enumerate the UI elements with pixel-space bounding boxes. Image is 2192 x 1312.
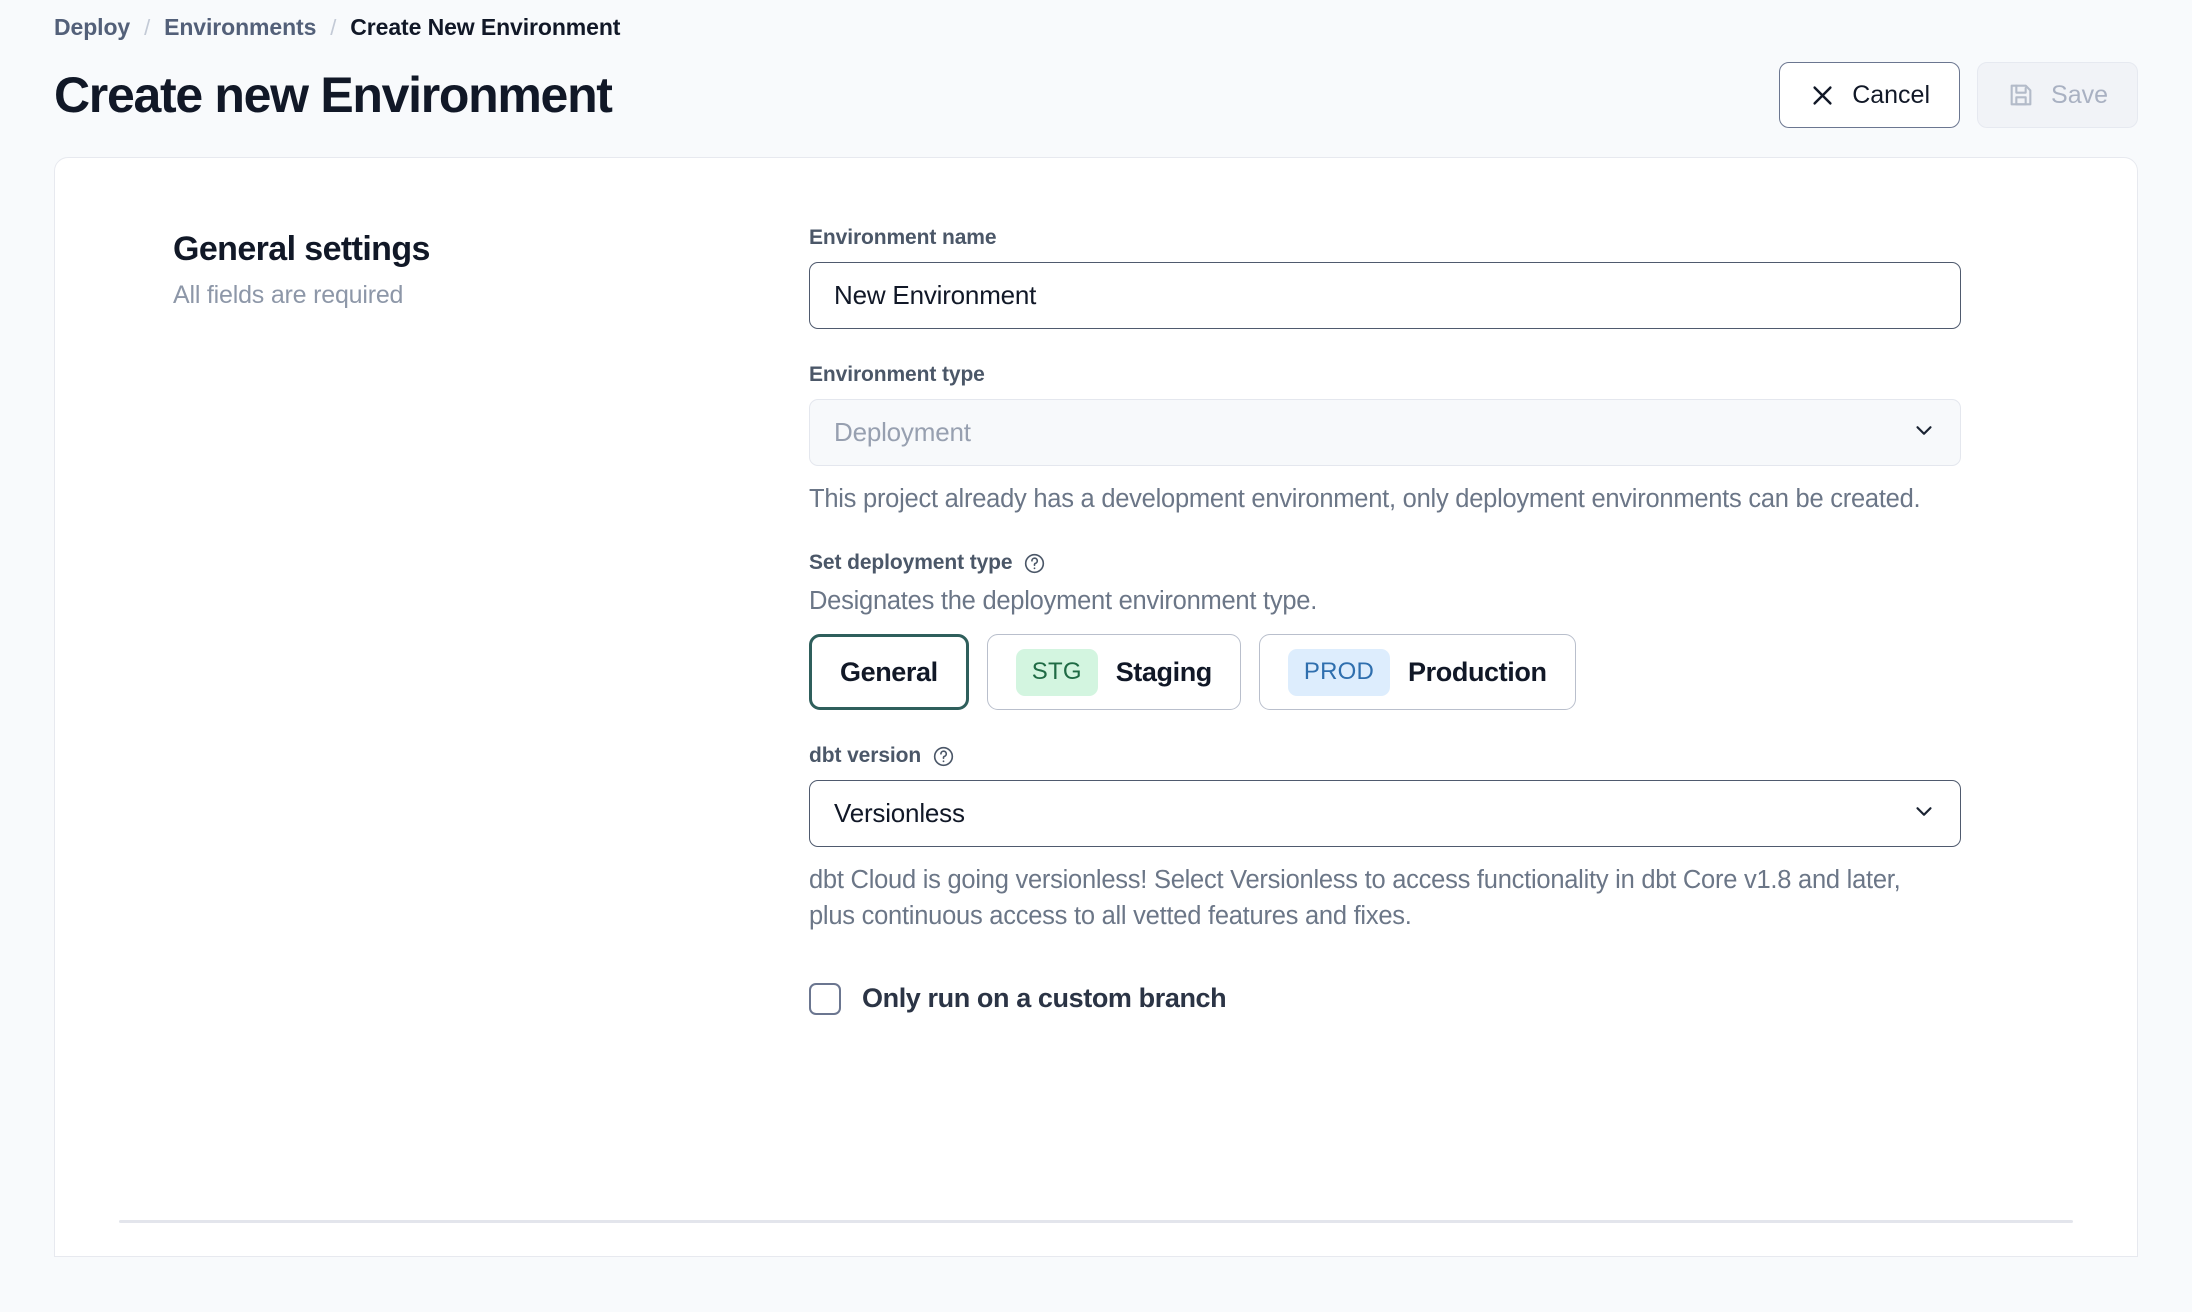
header-actions: Cancel Save bbox=[1779, 62, 2138, 128]
deployment-type-option-staging[interactable]: STG Staging bbox=[987, 634, 1241, 710]
section-header: General settings All fields are required bbox=[119, 226, 809, 310]
environment-type-select[interactable]: Deployment bbox=[809, 399, 1961, 466]
save-button[interactable]: Save bbox=[1977, 62, 2138, 128]
top-bar: Deploy / Environments / Create New Envir… bbox=[0, 0, 2192, 128]
deployment-type-toggle-group: General STG Staging PROD Production bbox=[809, 634, 1959, 710]
deployment-type-option-general[interactable]: General bbox=[809, 634, 969, 710]
custom-branch-label: Only run on a custom branch bbox=[862, 983, 1226, 1014]
environment-name-input[interactable] bbox=[809, 262, 1961, 329]
staging-badge: STG bbox=[1016, 649, 1098, 696]
section-divider bbox=[119, 1220, 2073, 1223]
custom-branch-row: Only run on a custom branch bbox=[809, 983, 1959, 1015]
deployment-type-option-staging-label: Staging bbox=[1116, 657, 1212, 688]
field-deployment-type: Set deployment type Designates the deplo… bbox=[809, 551, 1959, 710]
breadcrumb-item-deploy[interactable]: Deploy bbox=[54, 14, 130, 41]
section-title: General settings bbox=[173, 230, 809, 269]
question-circle-icon[interactable] bbox=[1023, 552, 1046, 575]
deployment-type-option-general-label: General bbox=[840, 657, 938, 688]
breadcrumb-item-create-new-environment: Create New Environment bbox=[350, 14, 620, 41]
environment-type-help-text: This project already has a development e… bbox=[809, 481, 1929, 517]
deployment-type-option-production-label: Production bbox=[1408, 657, 1547, 688]
custom-branch-checkbox[interactable] bbox=[809, 983, 841, 1015]
title-row: Create new Environment Cancel bbox=[54, 62, 2138, 128]
deployment-type-label: Set deployment type bbox=[809, 551, 1959, 575]
cancel-button-label: Cancel bbox=[1852, 81, 1930, 110]
dbt-version-select[interactable]: Versionless bbox=[809, 780, 1961, 847]
environment-type-label: Environment type bbox=[809, 363, 1959, 387]
production-badge: PROD bbox=[1288, 649, 1390, 696]
form-fields: Environment name Environment type Deploy… bbox=[809, 226, 1959, 1015]
deployment-type-option-production[interactable]: PROD Production bbox=[1259, 634, 1576, 710]
general-settings-card: General settings All fields are required… bbox=[54, 157, 2138, 1257]
field-environment-name: Environment name bbox=[809, 226, 1959, 329]
environment-type-value: Deployment bbox=[834, 417, 971, 448]
breadcrumb-separator: / bbox=[330, 15, 336, 41]
breadcrumb-separator: / bbox=[144, 15, 150, 41]
cancel-button[interactable]: Cancel bbox=[1779, 62, 1960, 128]
dbt-version-value: Versionless bbox=[834, 798, 965, 829]
close-icon bbox=[1809, 82, 1836, 109]
section-subtitle: All fields are required bbox=[173, 281, 809, 310]
save-disk-icon bbox=[2007, 81, 2035, 109]
save-button-label: Save bbox=[2051, 81, 2108, 110]
breadcrumb-item-environments[interactable]: Environments bbox=[164, 14, 316, 41]
question-circle-icon[interactable] bbox=[932, 745, 955, 768]
field-environment-type: Environment type Deployment This project… bbox=[809, 363, 1959, 517]
dbt-version-help-text: dbt Cloud is going versionless! Select V… bbox=[809, 862, 1929, 934]
environment-name-label: Environment name bbox=[809, 226, 1959, 250]
page-title: Create new Environment bbox=[54, 69, 612, 122]
field-dbt-version: dbt version Versionless bbox=[809, 744, 1959, 934]
breadcrumb: Deploy / Environments / Create New Envir… bbox=[54, 14, 2138, 41]
dbt-version-label: dbt version bbox=[809, 744, 1959, 768]
deployment-type-description: Designates the deployment environment ty… bbox=[809, 587, 1959, 616]
